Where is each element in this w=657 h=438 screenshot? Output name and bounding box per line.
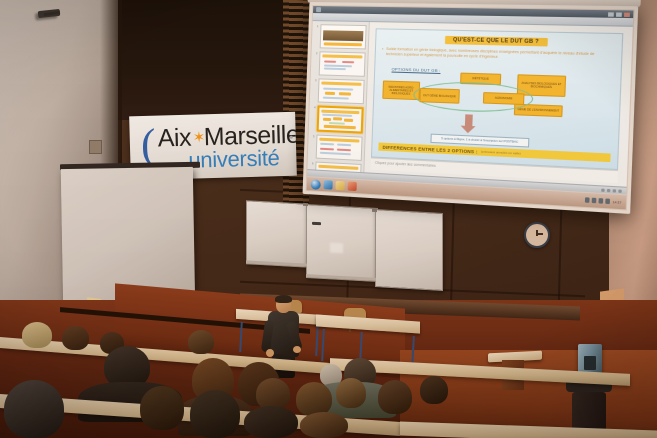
thumb-title — [319, 137, 359, 142]
audience-head — [188, 330, 214, 354]
thumb-line — [324, 68, 346, 70]
thumb-box — [344, 119, 353, 122]
minimize-icon[interactable] — [608, 12, 614, 16]
slide-title: QU'EST-CE QUE LE DUT GB ? — [444, 36, 547, 47]
internet-explorer-icon[interactable] — [323, 180, 332, 190]
network-icon[interactable] — [585, 197, 590, 203]
thumb-line — [320, 143, 334, 145]
slide-editing-area[interactable]: QU'EST-CE QUE LE DUT GB ? Solide formati… — [364, 22, 633, 187]
audience-head — [296, 382, 332, 416]
view-normal-icon[interactable] — [601, 188, 605, 191]
whiteboard-clip-1 — [303, 203, 308, 206]
center-node-box: DUT GÉNIE BIOLOGIQUE — [419, 88, 459, 104]
whiteboard-glare — [330, 243, 343, 254]
thumb-title — [318, 164, 358, 169]
banner-paren: ( — [140, 125, 156, 165]
whiteboard-marker-icon[interactable] — [312, 222, 321, 225]
audience-head-foreground — [140, 386, 184, 430]
thumbnail-number: 2 — [313, 51, 317, 55]
wall-clock — [524, 222, 550, 248]
powerpoint-window[interactable]: 1 2 — [307, 6, 634, 209]
windows-start-icon[interactable] — [311, 179, 321, 190]
explorer-icon[interactable] — [335, 181, 344, 191]
footer-sub-text: (créneaux annulés en salle) — [481, 149, 521, 155]
whiteboard-left — [246, 200, 309, 268]
app-icon — [316, 7, 321, 12]
thumb-line — [323, 97, 349, 99]
thumbnail-2[interactable] — [319, 51, 366, 77]
thumbnail-number: 6 — [309, 161, 313, 165]
thumbnail-number: 3 — [312, 78, 316, 82]
footer-main-text: DIFFERENCES ENTRE LES 2 OPTIONS : — [382, 144, 477, 154]
thumb-line — [337, 149, 351, 151]
whiteboard-right — [375, 209, 443, 291]
banner-word-universite: université — [188, 146, 280, 172]
thumbnail-number: 5 — [310, 134, 314, 138]
audience-head-foreground — [4, 380, 64, 438]
thumbnail-4[interactable] — [317, 105, 364, 133]
whiteboard-clip-2 — [372, 209, 377, 212]
thumbnail-number: 1 — [314, 24, 318, 28]
thumb-footer-box — [324, 125, 356, 129]
audience-head-foreground — [244, 406, 298, 438]
view-slideshow-icon[interactable] — [618, 189, 622, 192]
thumb-photo — [323, 30, 363, 41]
thumb-line — [342, 61, 354, 63]
system-tray[interactable]: 14:37 — [585, 197, 621, 204]
battery-icon[interactable] — [599, 198, 604, 204]
thumb-title — [321, 81, 361, 85]
banner-word-aix: Aix — [157, 125, 191, 152]
maximize-icon[interactable] — [616, 12, 622, 16]
close-icon[interactable] — [624, 12, 630, 16]
thumbnail-number: 4 — [312, 105, 316, 109]
taskbar-clock[interactable]: 14:37 — [613, 199, 622, 204]
thumbnail-item[interactable]: 1 — [314, 24, 367, 49]
ceiling-dark-area — [112, 0, 312, 120]
thumb-line — [324, 60, 336, 62]
thumb-line — [323, 88, 353, 91]
current-slide[interactable]: QU'EST-CE QUE LE DUT GB ? Solide formati… — [371, 28, 623, 170]
thumb-line — [320, 152, 351, 155]
thumb-title — [322, 54, 362, 58]
thumb-line — [337, 144, 351, 146]
clock-minute-hand — [536, 233, 543, 235]
slide-thumbnail-pane[interactable]: 1 2 — [307, 21, 369, 172]
view-sorter-icon[interactable] — [607, 188, 611, 191]
thumbnail-3[interactable] — [318, 78, 365, 104]
thumb-box — [323, 118, 331, 121]
volume-icon[interactable] — [592, 198, 597, 204]
thumbnail-1[interactable] — [320, 24, 367, 49]
thumbnail-item[interactable]: 2 — [313, 51, 366, 77]
audience-head-foreground — [300, 412, 348, 438]
down-arrow-head-icon — [460, 126, 475, 134]
powerpoint-icon[interactable] — [347, 181, 356, 191]
slide-options-label: OPTIONS DU DUT GB : — [392, 66, 441, 73]
language-icon[interactable] — [606, 199, 611, 205]
wall-outlet[interactable] — [89, 140, 102, 154]
thumb-line — [322, 114, 352, 117]
thumbnail-item-active[interactable]: 4 — [311, 105, 364, 133]
thumbnail-item[interactable]: 5 — [310, 134, 363, 161]
projection-screen-surface: 1 2 — [307, 6, 634, 209]
thumb-box — [339, 92, 351, 95]
view-reading-icon[interactable] — [613, 189, 617, 192]
audience-desk-row-4 — [400, 422, 657, 438]
slide-bullet-text: Solide formation en génie biologique, av… — [386, 47, 610, 62]
thumb-line — [320, 148, 334, 150]
thumb-box — [324, 42, 362, 46]
thumb-box — [333, 117, 342, 120]
powerpoint-body: 1 2 — [307, 21, 632, 187]
audience-area — [0, 322, 657, 438]
audience-head — [62, 326, 89, 350]
audience-head — [378, 380, 412, 414]
thumbnail-item[interactable]: 3 — [312, 78, 365, 104]
audience-head — [336, 378, 366, 408]
audience-head — [22, 322, 52, 348]
main-projection-screen: 1 2 — [303, 2, 639, 214]
presenter-hair — [275, 295, 292, 303]
audience-head — [420, 376, 448, 404]
lecture-hall-photo: ( Aix ✶ Marseille université — [0, 0, 657, 438]
thumbnail-5[interactable] — [316, 135, 363, 161]
banner-grommet — [290, 136, 293, 139]
audience-head-foreground — [190, 390, 240, 438]
thumb-line — [324, 64, 352, 66]
thumb-box — [325, 92, 335, 95]
